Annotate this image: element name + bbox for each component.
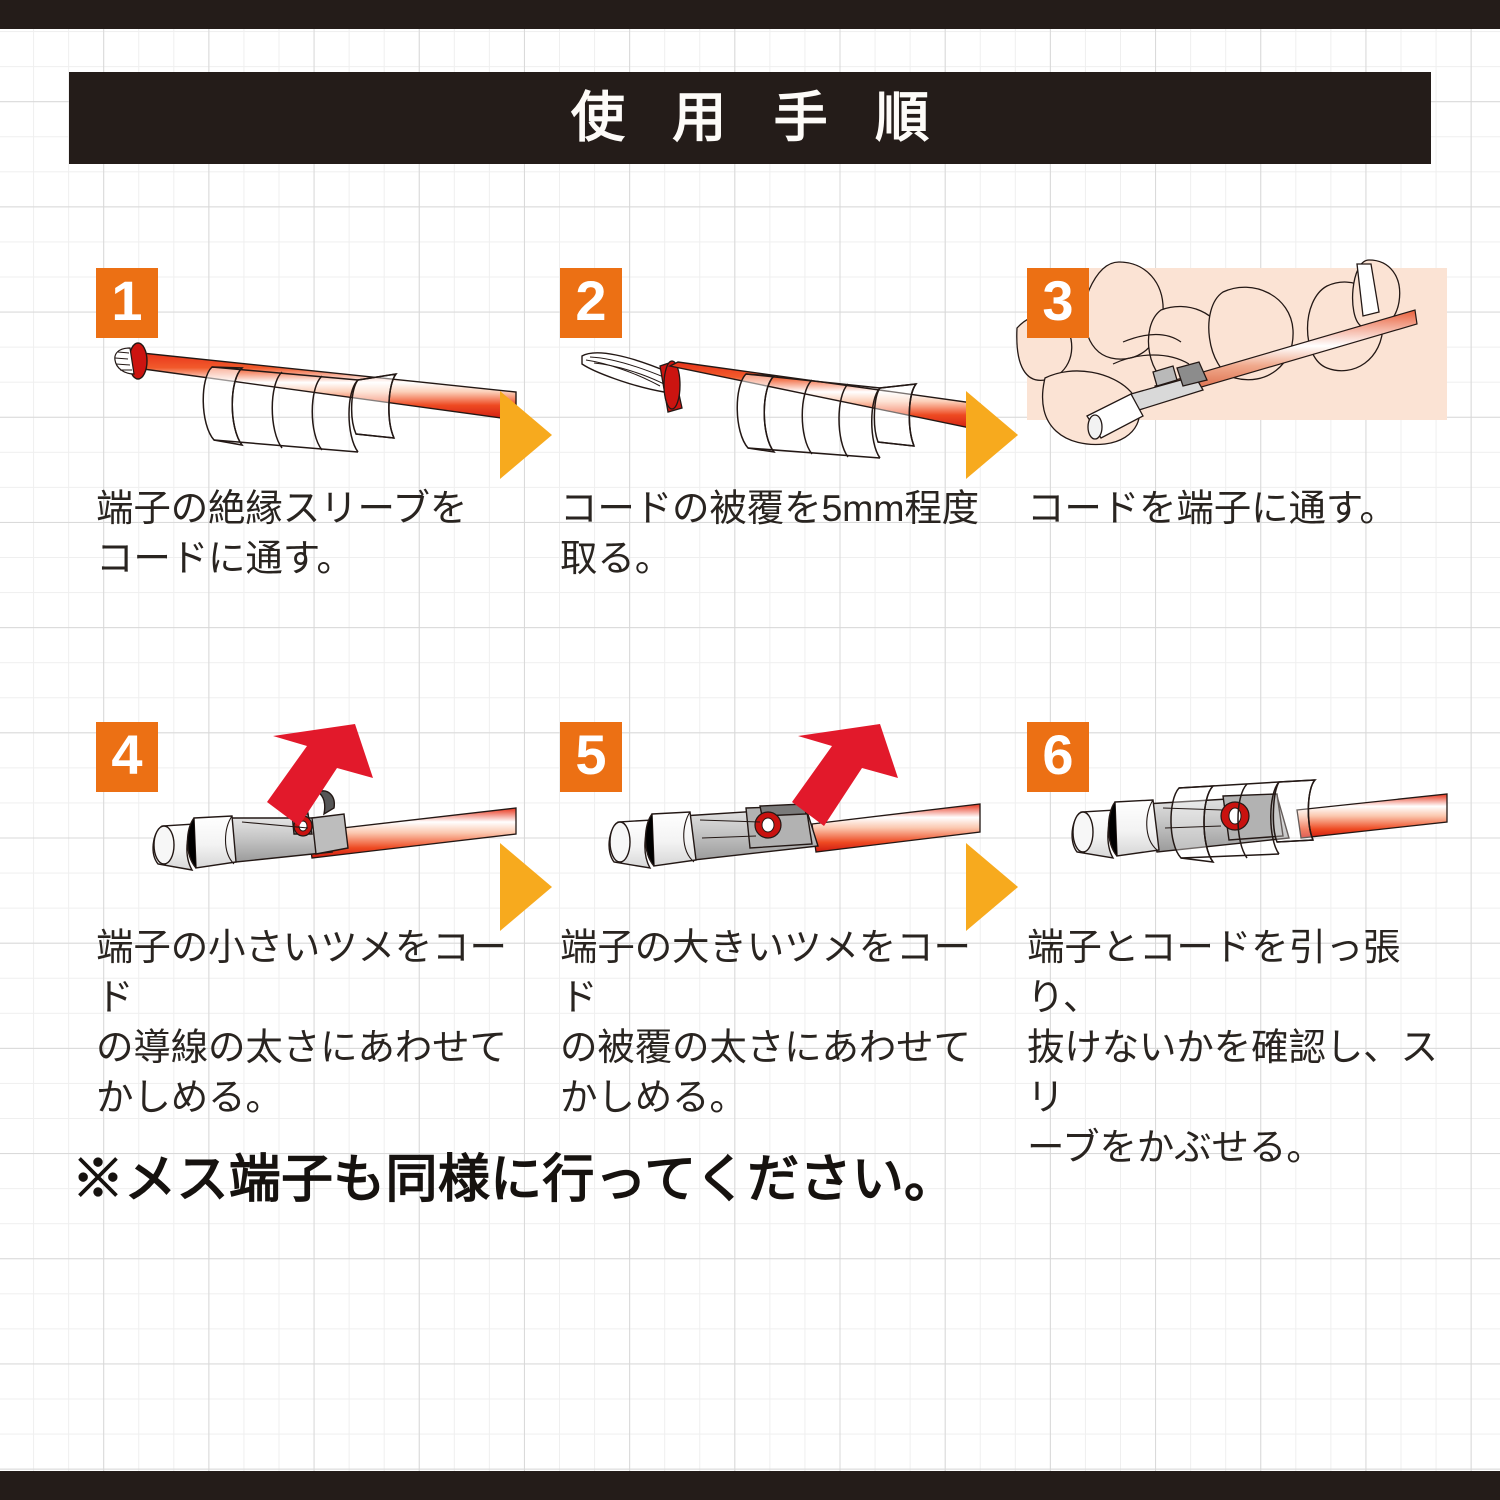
footer-note: ※メス端子も同様に行ってください。 [72,1152,956,1209]
step-card-1: 1 [96,268,516,584]
next-step-arrow-icon [500,391,552,479]
step-2-caption: コードの被覆を5mm程度 取る。 [560,484,980,584]
step-number-badge: 4 [96,722,158,792]
step-1-caption: 端子の絶縁スリーブを コードに通す。 [96,484,516,584]
step-card-6: 6 [1027,722,1447,1172]
instruction-sheet: 使 用 手 順 1 [0,0,1500,1500]
step-3-caption: コードを端子に通す。 [1027,484,1447,534]
next-step-arrow-icon [500,843,552,931]
step-6-caption: 端子とコードを引っ張り、 抜けないかを確認し、スリ ーブをかぶせる。 [1027,923,1447,1172]
crimp-direction-arrow-icon [770,716,910,846]
step-number-badge: 2 [560,268,622,338]
wire-with-insulation-sleeve-icon [96,268,516,478]
next-step-arrow-icon [966,391,1018,479]
step-number-badge: 6 [1027,722,1089,792]
terminal-assembled-with-sleeve-icon [1027,722,1447,917]
step-number-badge: 3 [1027,268,1089,338]
crimp-direction-arrow-icon [245,716,385,846]
step-number-badge: 5 [560,722,622,792]
step-card-3: 3 [1027,268,1447,534]
step-card-2: 2 [560,268,980,584]
hands-inserting-cord-into-terminal-icon [1027,268,1447,478]
step-4-caption: 端子の小さいツメをコード の導線の太さにあわせて かしめる。 [96,923,516,1123]
step-2-illustration: 2 [560,268,980,478]
step-1-illustration: 1 [96,268,516,478]
step-3-illustration: 3 [1027,268,1447,478]
step-number-badge: 1 [96,268,158,338]
wire-stripped-5mm-icon [560,268,980,478]
step-5-caption: 端子の大きいツメをコード の被覆の太さにあわせて かしめる。 [560,923,980,1123]
next-step-arrow-icon [966,843,1018,931]
step-6-illustration: 6 [1027,722,1447,917]
